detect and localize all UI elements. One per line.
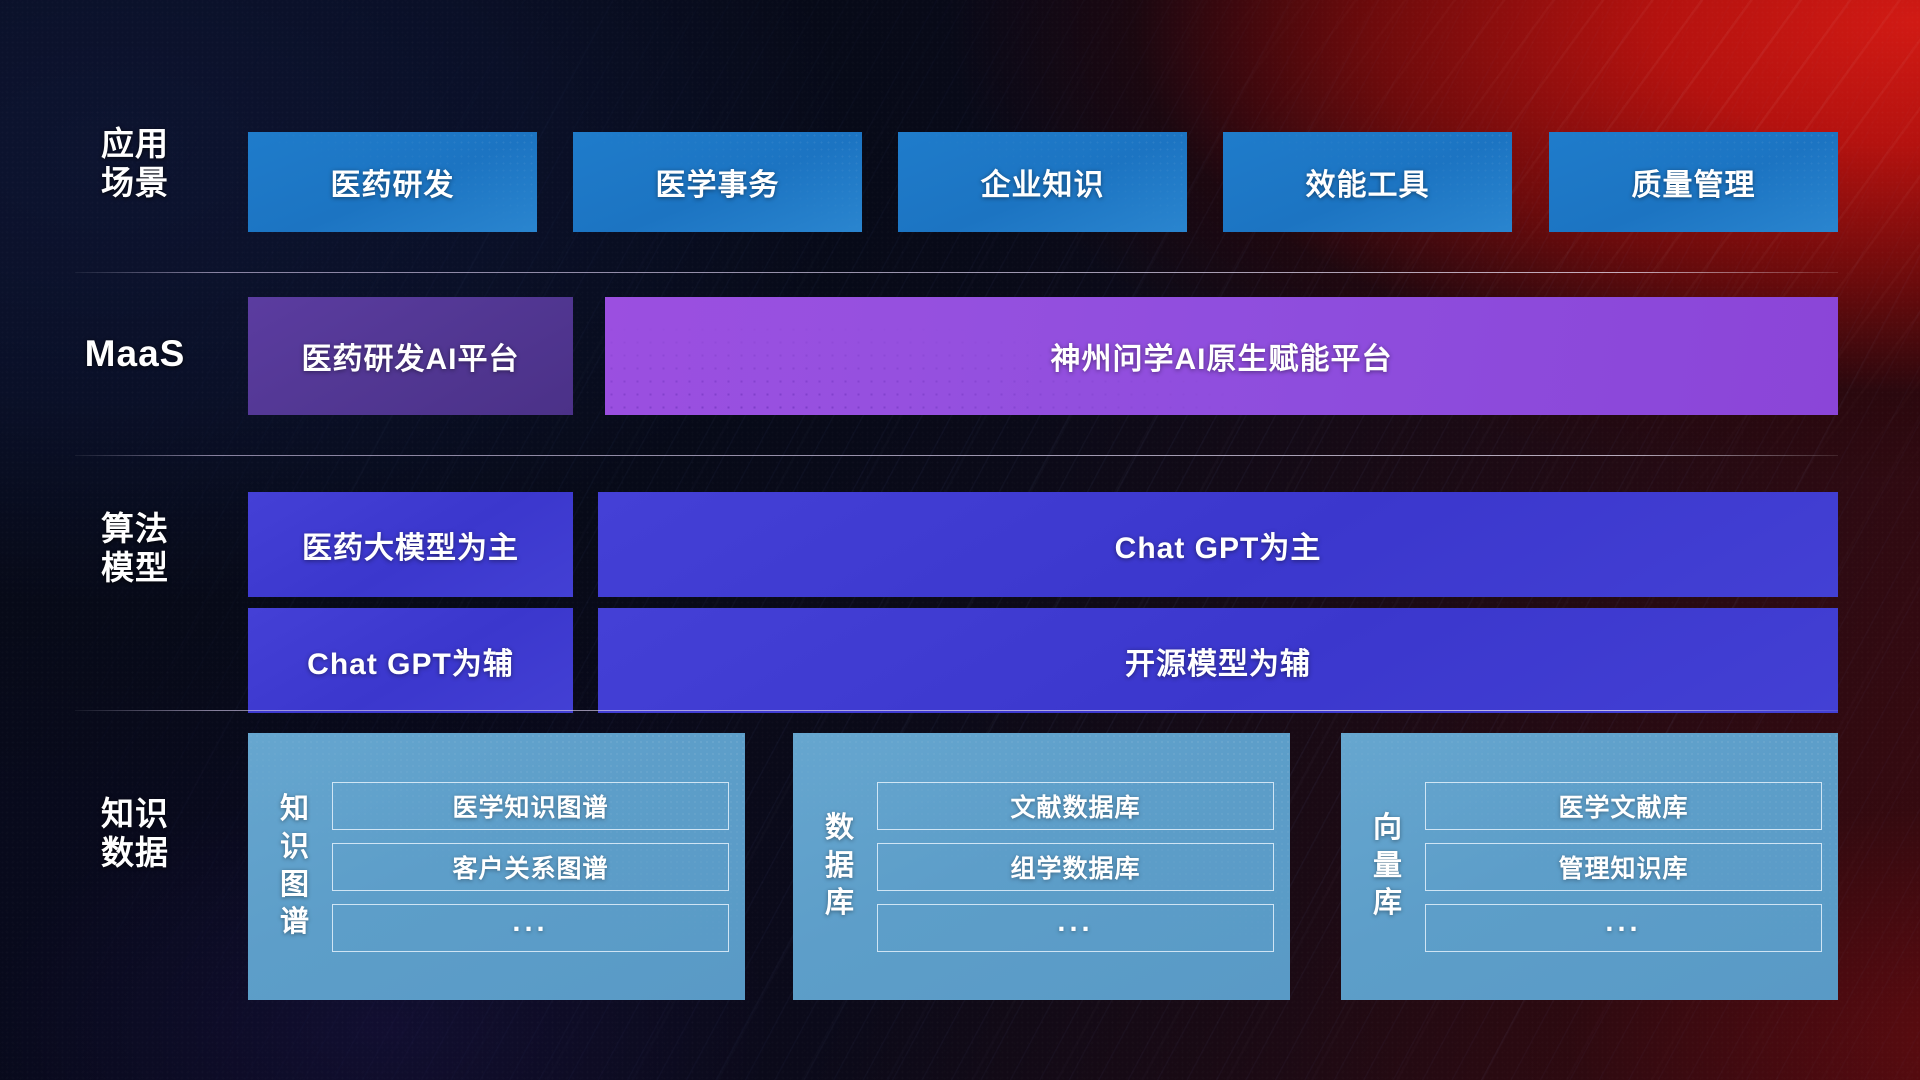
knowledge-group-3-items: 医学文献库 管理知识库 ...: [1417, 782, 1822, 952]
algorithm-card-left-2-label: Chat GPT为辅: [307, 639, 514, 683]
algorithm-card-left-1-label: 医药大模型为主: [302, 523, 519, 567]
knowledge-group-database[interactable]: 数 据 库 文献数据库 组学数据库 ...: [793, 733, 1290, 1000]
knowledge-item-3-2[interactable]: 管理知识库: [1425, 843, 1822, 891]
knowledge-group-2-category: 数 据 库: [811, 810, 869, 923]
knowledge-item-1-3[interactable]: ...: [332, 904, 729, 952]
algorithm-card-right-2-label: 开源模型为辅: [1125, 639, 1311, 683]
knowledge-item-2-2[interactable]: 组学数据库: [877, 843, 1274, 891]
knowledge-item-1-2[interactable]: 客户关系图谱: [332, 843, 729, 891]
scenario-card-2-label: 医学事务: [656, 160, 780, 204]
scenario-card-4[interactable]: 效能工具: [1223, 132, 1512, 232]
row-label-knowledge: 知识 数据: [75, 795, 195, 873]
scenario-card-3[interactable]: 企业知识: [898, 132, 1187, 232]
scenario-card-3-label: 企业知识: [981, 160, 1105, 204]
knowledge-group-1-category: 知 识 图 谱: [266, 791, 324, 942]
algorithm-card-right-1-label: Chat GPT为主: [1115, 523, 1322, 567]
knowledge-item-3-1[interactable]: 医学文献库: [1425, 782, 1822, 830]
maas-drug-rd-platform-label: 医药研发AI平台: [302, 334, 520, 378]
row-separator-1: [75, 272, 1838, 273]
algorithm-card-right-2[interactable]: 开源模型为辅: [598, 608, 1838, 713]
algorithm-card-right-1[interactable]: Chat GPT为主: [598, 492, 1838, 597]
scenario-card-5[interactable]: 质量管理: [1549, 132, 1838, 232]
knowledge-item-2-3[interactable]: ...: [877, 904, 1274, 952]
row-separator-2: [75, 455, 1838, 456]
row-label-maas: MaaS: [75, 332, 195, 376]
maas-shenzhou-platform-card[interactable]: 神州问学AI原生赋能平台: [605, 297, 1838, 415]
maas-drug-rd-platform-card[interactable]: 医药研发AI平台: [248, 297, 573, 415]
knowledge-group-3-category: 向 量 库: [1359, 810, 1417, 923]
knowledge-group-knowledge-graph[interactable]: 知 识 图 谱 医学知识图谱 客户关系图谱 ...: [248, 733, 745, 1000]
scenario-card-4-label: 效能工具: [1306, 160, 1430, 204]
architecture-diagram: 应用 场景 医药研发 医学事务 企业知识 效能工具 质量管理 MaaS 医药研发…: [0, 0, 1920, 1080]
scenario-card-1[interactable]: 医药研发: [248, 132, 537, 232]
knowledge-group-2-items: 文献数据库 组学数据库 ...: [869, 782, 1274, 952]
row-label-algorithms: 算法 模型: [75, 510, 195, 588]
knowledge-item-3-3[interactable]: ...: [1425, 904, 1822, 952]
algorithm-card-left-2[interactable]: Chat GPT为辅: [248, 608, 573, 713]
knowledge-group-vector-store[interactable]: 向 量 库 医学文献库 管理知识库 ...: [1341, 733, 1838, 1000]
scenario-card-2[interactable]: 医学事务: [573, 132, 862, 232]
knowledge-item-2-1[interactable]: 文献数据库: [877, 782, 1274, 830]
algorithm-card-left-1[interactable]: 医药大模型为主: [248, 492, 573, 597]
maas-shenzhou-platform-label: 神州问学AI原生赋能平台: [1051, 334, 1393, 378]
knowledge-item-1-1[interactable]: 医学知识图谱: [332, 782, 729, 830]
row-label-scenarios: 应用 场景: [75, 125, 195, 203]
scenario-card-1-label: 医药研发: [331, 160, 455, 204]
knowledge-group-1-items: 医学知识图谱 客户关系图谱 ...: [324, 782, 729, 952]
row-separator-3: [75, 710, 1838, 711]
scenario-card-5-label: 质量管理: [1632, 160, 1756, 204]
